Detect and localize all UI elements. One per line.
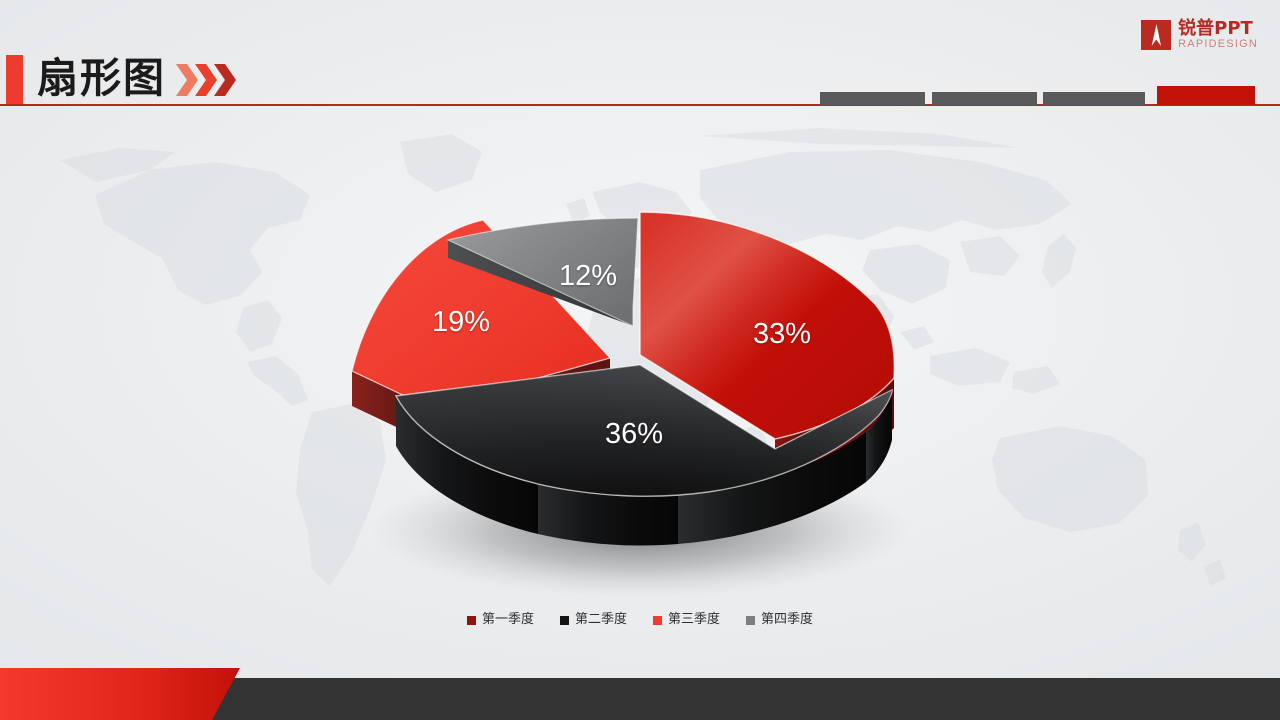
legend-swatch-q4	[746, 616, 755, 625]
nav-tab-1[interactable]	[820, 92, 925, 105]
legend-item-q3[interactable]: 第三季度	[653, 613, 720, 627]
nav-tab-2[interactable]	[932, 92, 1037, 105]
chart-legend: 第一季度 第二季度 第三季度 第四季度	[300, 605, 980, 635]
legend-item-q4[interactable]: 第四季度	[746, 613, 813, 627]
pie-chart: 33% 36% 19% 12% 第一季度 第二季度 第三季度 第四季度	[300, 200, 980, 640]
nav-tab-bar	[0, 0, 1280, 110]
footer-red-shape	[0, 668, 250, 720]
legend-label-q2: 第二季度	[575, 613, 627, 627]
legend-item-q1[interactable]: 第一季度	[467, 613, 534, 627]
legend-label-q1: 第一季度	[482, 613, 534, 627]
legend-label-q4: 第四季度	[761, 613, 813, 627]
rapidesign-logo-icon	[1141, 20, 1171, 50]
legend-swatch-q2	[560, 616, 569, 625]
legend-label-q3: 第三季度	[668, 613, 720, 627]
legend-swatch-q1	[467, 616, 476, 625]
logo-sub-text: RAPIDESIGN	[1178, 39, 1258, 50]
nav-tab-4-active[interactable]	[1157, 86, 1255, 105]
nav-tab-3[interactable]	[1043, 92, 1145, 105]
brand-logo: 锐普PPT RAPIDESIGN	[1141, 18, 1258, 52]
pie-chart-graphic	[300, 200, 980, 600]
page-footer	[0, 668, 1280, 720]
logo-text-block: 锐普PPT RAPIDESIGN	[1178, 20, 1258, 50]
logo-main-text: 锐普PPT	[1178, 20, 1258, 38]
legend-swatch-q3	[653, 616, 662, 625]
legend-item-q2[interactable]: 第二季度	[560, 613, 627, 627]
slide-canvas: 扇形图 锐普PPT RAPIDESIGN	[0, 0, 1280, 720]
